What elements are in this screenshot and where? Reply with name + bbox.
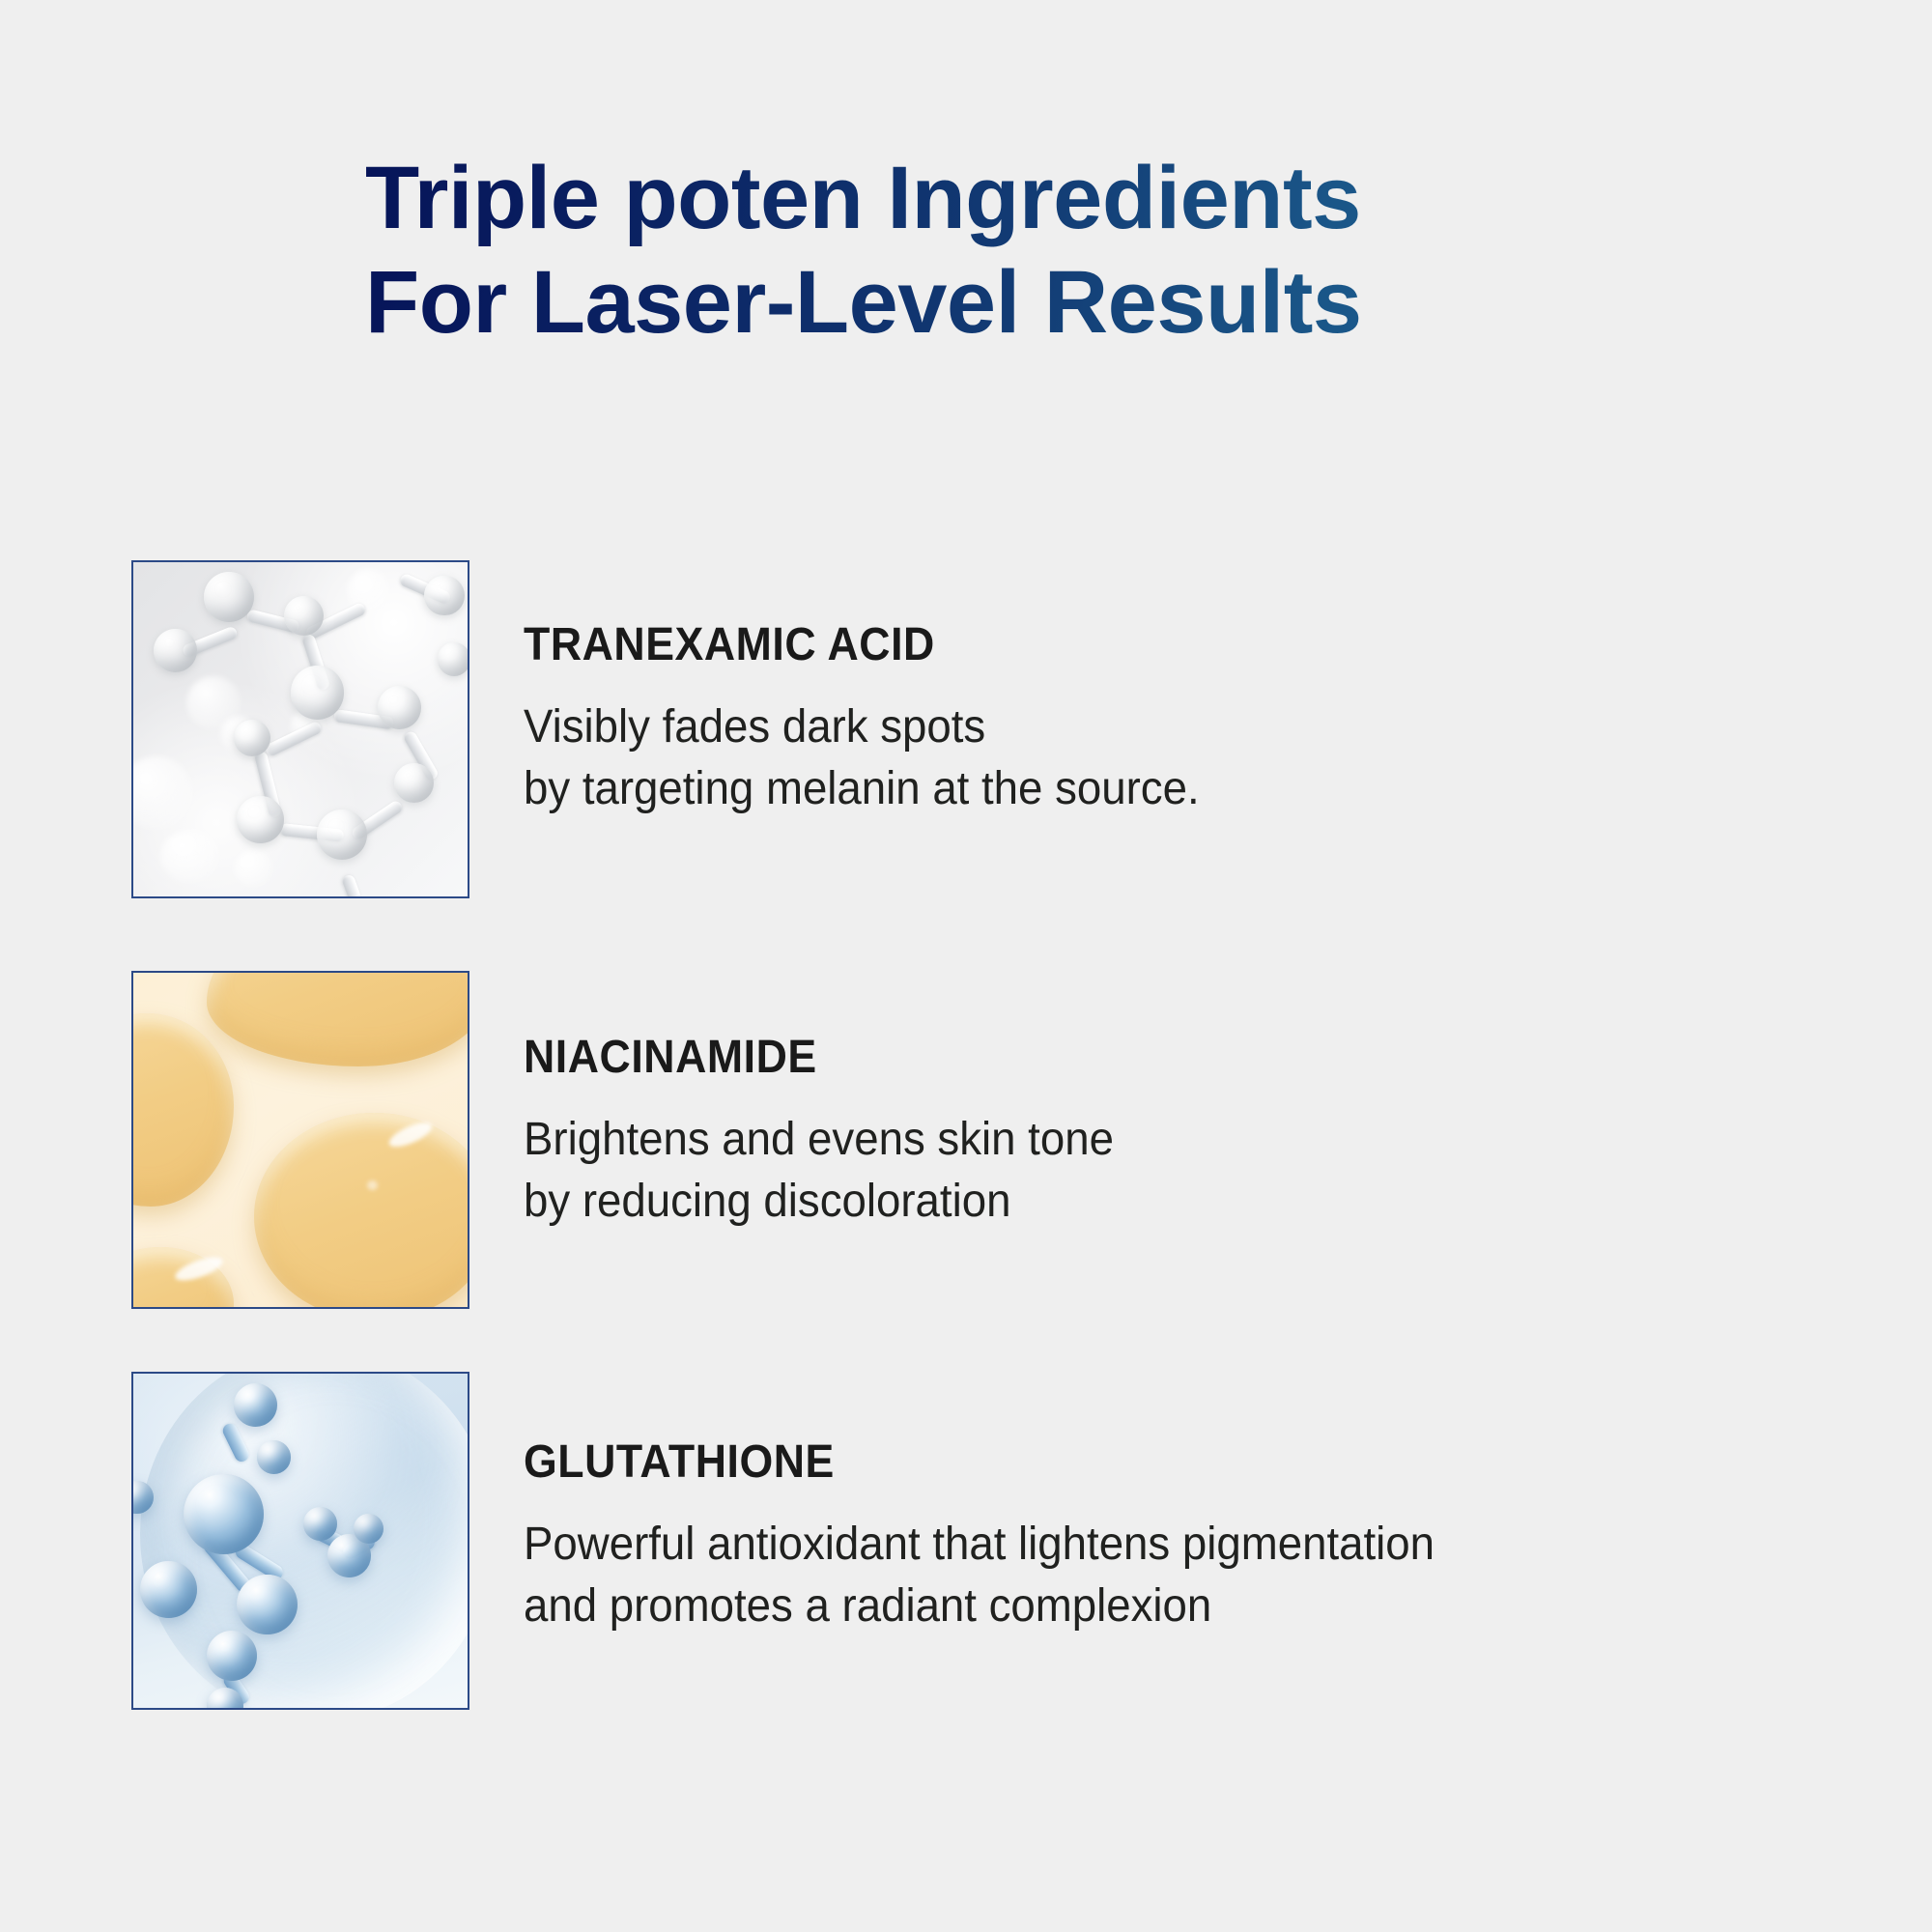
ingredient-description: Powerful antioxidant that lightens pigme… xyxy=(524,1514,1772,1637)
ingredient-description: Brightens and evens skin tone by reducin… xyxy=(524,1109,1772,1233)
clear-molecule-icon xyxy=(133,562,468,896)
ingredient-description: Visibly fades dark spots by targeting me… xyxy=(524,696,1772,820)
serum-droplets-icon xyxy=(133,973,468,1307)
ingredient-copy-glutathione: GLUTATHIONE Powerful antioxidant that li… xyxy=(524,1435,1837,1637)
ingredient-copy-niacinamide: NIACINAMIDE Brightens and evens skin ton… xyxy=(524,1031,1837,1233)
ingredient-name: TRANEXAMIC ACID xyxy=(524,618,1746,671)
ingredient-copy-tranexamic-acid: TRANEXAMIC ACID Visibly fades dark spots… xyxy=(524,618,1837,820)
ingredient-image-niacinamide xyxy=(131,971,469,1309)
page-title: Triple poten Ingredients For Laser-Level… xyxy=(365,147,1621,355)
ingredient-image-glutathione xyxy=(131,1372,469,1710)
blue-molecule-droplet-icon xyxy=(133,1374,468,1708)
ingredient-name: GLUTATHIONE xyxy=(524,1435,1746,1489)
ingredient-name: NIACINAMIDE xyxy=(524,1031,1746,1084)
ingredient-image-tranexamic-acid xyxy=(131,560,469,898)
ingredient-infographic-page: Triple poten Ingredients For Laser-Level… xyxy=(0,0,1932,1932)
